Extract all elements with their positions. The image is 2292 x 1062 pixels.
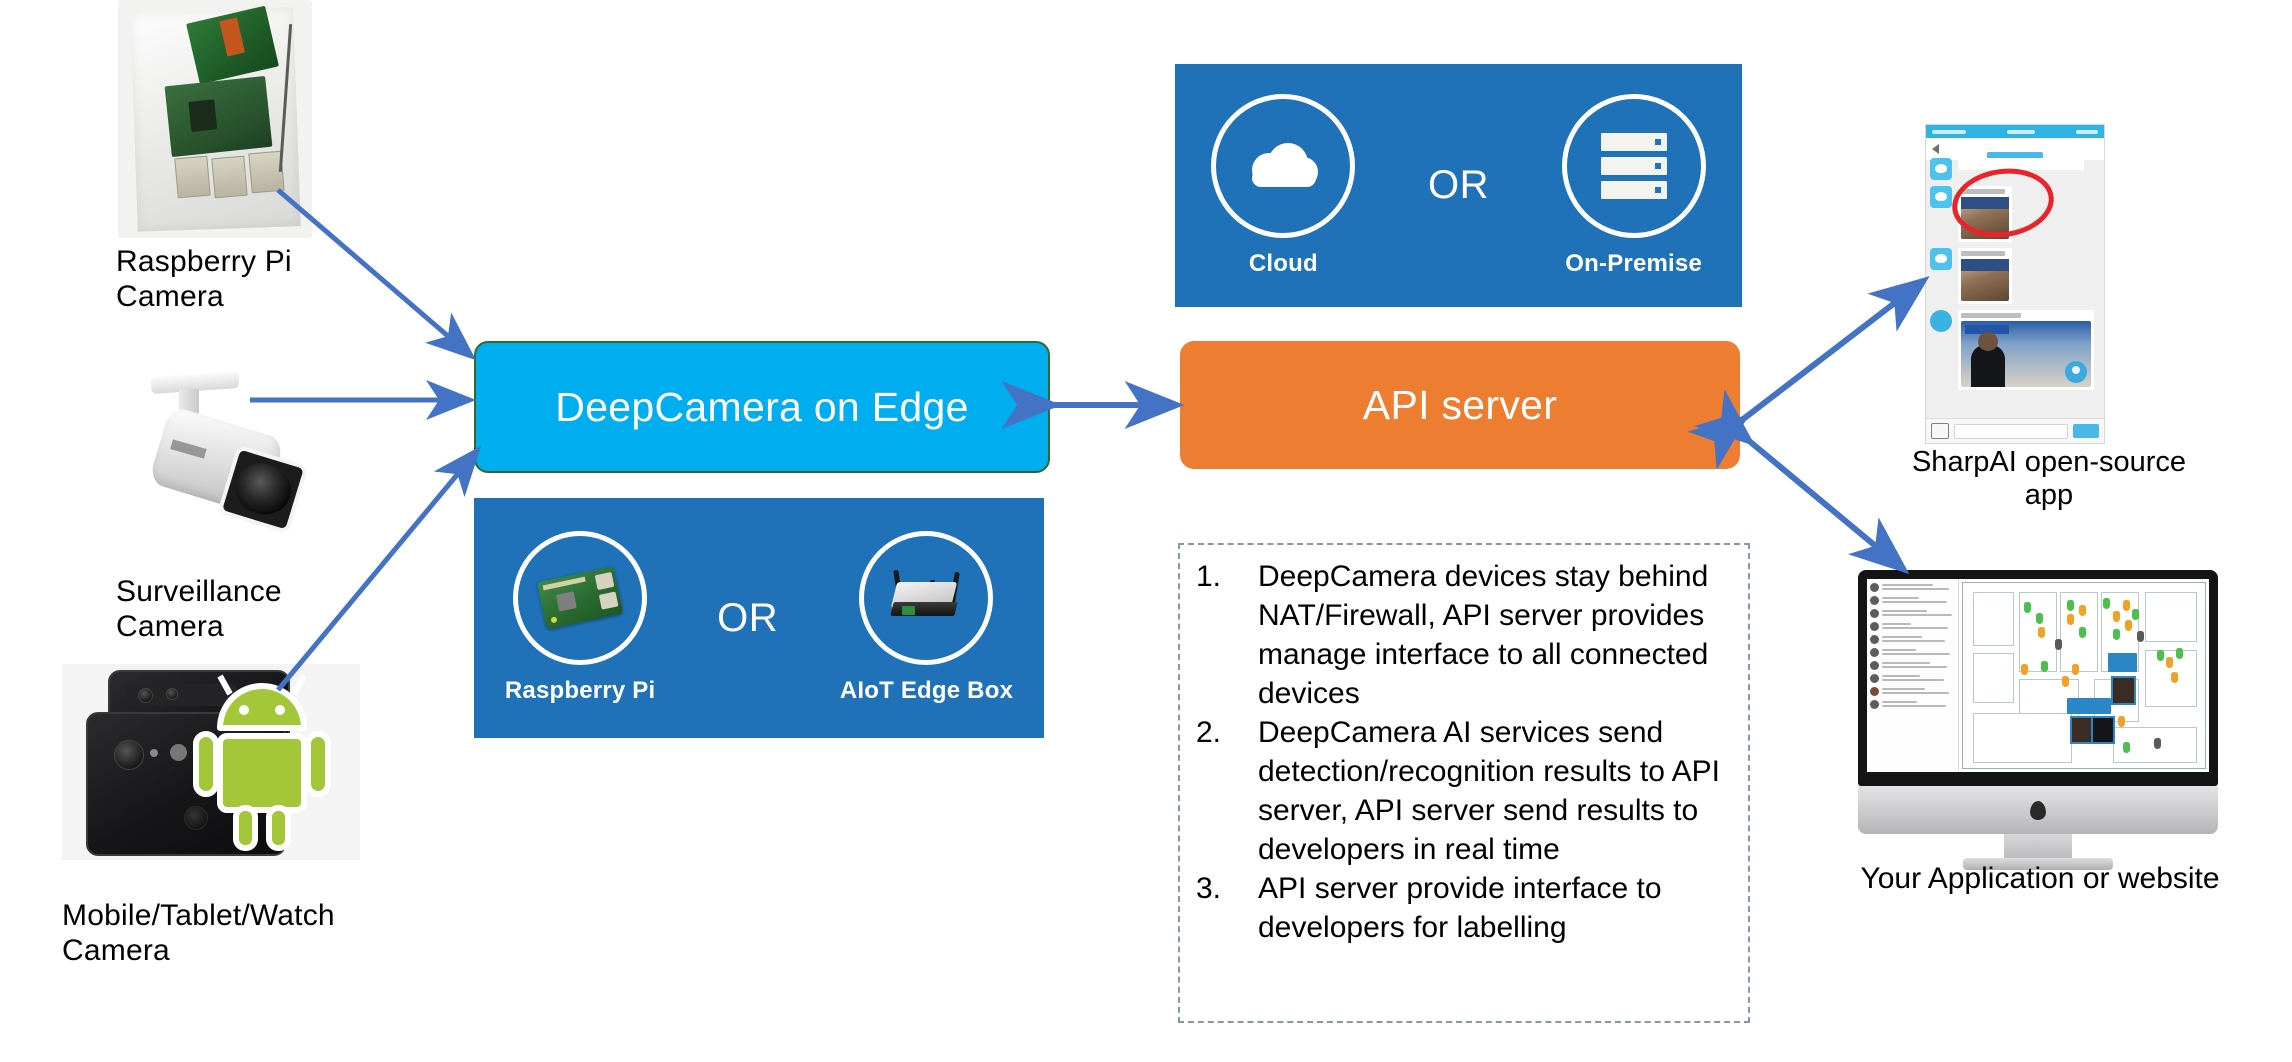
edge-hardware-or-label: OR [717, 596, 778, 641]
hardware-option-aiot-edge-box[interactable]: AIoT Edge Box [840, 531, 1013, 705]
message-input[interactable] [1954, 424, 2068, 439]
mobile-camera-photo [62, 664, 360, 860]
arrow-api-to-sharpai-app [1742, 282, 1922, 420]
detection-thumbnail [2070, 716, 2093, 744]
hardware-option-raspberry-pi[interactable]: Raspberry Pi [505, 531, 655, 705]
surveillance-camera-label-line1: Surveillance [116, 574, 356, 609]
list-item[interactable] [1870, 674, 1955, 683]
raspberry-pi-camera-label-line1: Raspberry Pi [116, 244, 346, 279]
raspberry-pi-camera-label-line2: Camera [116, 279, 346, 314]
list-item[interactable] [1870, 583, 1955, 592]
contact-avatar [1930, 248, 1952, 270]
list-item[interactable] [1870, 687, 1955, 696]
note-item: 2. DeepCamera AI services send detection… [1196, 713, 1734, 869]
list-item[interactable] [1870, 635, 1955, 644]
raspberry-pi-camera-label: Raspberry Pi Camera [116, 244, 346, 314]
detection-card [2108, 653, 2137, 672]
list-item[interactable] [1870, 622, 1955, 631]
architecture-diagram: Raspberry Pi Camera Surveillance Camera [0, 0, 2292, 1062]
list-item[interactable] [1870, 700, 1955, 709]
app-status-bar [1926, 125, 2104, 138]
detection-scene-thumbnail [1961, 321, 2091, 387]
apple-logo-icon [2030, 801, 2046, 820]
detection-thumbnail [2111, 676, 2137, 706]
edge-hardware-panel: Raspberry Pi OR AIoT Edge Box [474, 498, 1044, 738]
sharpai-app-screenshot [1925, 124, 2105, 444]
on-premise-ring-icon [1562, 94, 1706, 238]
contact-avatar [1930, 310, 1952, 332]
cloud-icon [1244, 143, 1322, 189]
android-robot-icon [190, 668, 340, 854]
monitor-screen [1867, 579, 2209, 772]
monitor-bezel [1858, 570, 2218, 786]
list-item[interactable] [1870, 596, 1955, 605]
deployment-panel: Cloud OR On-Premise [1175, 64, 1742, 307]
note-text: API server provide interface to develope… [1258, 869, 1734, 947]
send-button[interactable] [2073, 424, 2099, 438]
note-text: DeepCamera devices stay behind NAT/Firew… [1258, 557, 1734, 713]
aiot-edge-box-device-icon [882, 568, 970, 628]
chat-bubble [1958, 158, 2084, 170]
dashboard-sidebar[interactable] [1867, 579, 1959, 772]
mobile-camera-label: Mobile/Tablet/Watch Camera [62, 898, 402, 968]
deployment-option-cloud[interactable]: Cloud [1211, 94, 1355, 278]
note-text: DeepCamera AI services send detection/re… [1258, 713, 1734, 869]
arrow-api-to-web-app [1748, 440, 1902, 568]
deployment-option-on-premise[interactable]: On-Premise [1562, 94, 1706, 278]
server-rack-icon [1601, 133, 1667, 199]
note-item: 1. DeepCamera devices stay behind NAT/Fi… [1196, 557, 1734, 713]
app-title-placeholder [1926, 146, 2104, 153]
sharpai-app-caption: SharpAI open-source app [1884, 446, 2214, 512]
raspberry-pi-camera-photo [118, 0, 312, 238]
surveillance-camera-photo [98, 370, 318, 560]
chat-bubble-scene [1958, 310, 2094, 390]
chat-message [1930, 310, 2098, 390]
notes-box: 1. DeepCamera devices stay behind NAT/Fi… [1178, 543, 1750, 1023]
raspberry-pi-board-icon [537, 566, 623, 629]
surveillance-camera-label-line2: Camera [116, 609, 356, 644]
contact-avatar [1930, 158, 1952, 180]
surveillance-camera-label: Surveillance Camera [116, 574, 356, 644]
detected-face-thumbnail [1961, 259, 2009, 301]
aiot-edge-box-caption: AIoT Edge Box [840, 677, 1013, 705]
your-application-monitor [1858, 570, 2218, 870]
aiot-edge-box-ring-icon [859, 531, 993, 665]
floorplan-view[interactable] [1962, 582, 2206, 769]
chat-message [1930, 248, 2098, 304]
detection-card [2067, 698, 2111, 715]
note-number: 1. [1196, 557, 1258, 596]
list-item[interactable] [1870, 661, 1955, 670]
contact-avatar [1930, 186, 1952, 208]
deployment-or-label: OR [1428, 163, 1489, 208]
mobile-camera-label-line1: Mobile/Tablet/Watch [62, 898, 402, 933]
cloud-caption: Cloud [1249, 250, 1318, 278]
image-attach-icon[interactable] [1931, 423, 1949, 439]
list-item[interactable] [1870, 648, 1955, 657]
cloud-ring-icon [1211, 94, 1355, 238]
raspberry-pi-caption: Raspberry Pi [505, 677, 655, 705]
api-server-box[interactable]: API server [1180, 341, 1740, 469]
note-number: 3. [1196, 869, 1258, 908]
monitor-chin [1858, 786, 2218, 834]
mobile-camera-label-line2: Camera [62, 933, 402, 968]
note-item: 3. API server provide interface to devel… [1196, 869, 1734, 947]
api-server-title: API server [1363, 382, 1557, 429]
your-application-caption: Your Application or website [1840, 862, 2240, 896]
app-input-bar[interactable] [1926, 418, 2104, 443]
on-premise-caption: On-Premise [1565, 250, 1702, 278]
note-number: 2. [1196, 713, 1258, 752]
raspberry-pi-ring-icon [513, 531, 647, 665]
list-item[interactable] [1870, 609, 1955, 618]
deepcamera-on-edge-box[interactable]: DeepCamera on Edge [474, 341, 1050, 473]
chat-bubble-face [1958, 248, 2012, 304]
deepcamera-on-edge-title: DeepCamera on Edge [555, 384, 968, 431]
detection-thumbnail [2091, 716, 2114, 744]
